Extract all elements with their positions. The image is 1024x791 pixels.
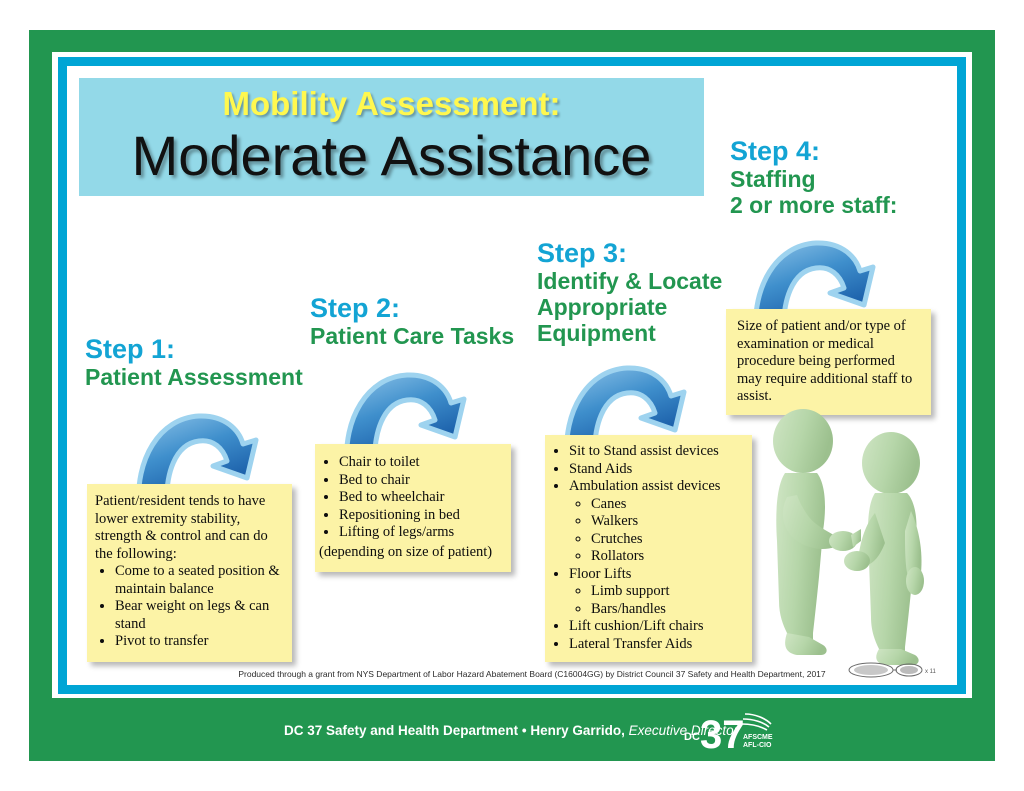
- list-item: Ambulation assist devices Canes Walkers …: [569, 478, 746, 566]
- list-item: Rollators: [591, 548, 746, 566]
- step-1-title: Patient Assessment: [85, 364, 303, 390]
- title-banner: Mobility Assessment: Moderate Assistance: [79, 78, 704, 196]
- step-4-heading: Step 4: Staffing 2 or more staff:: [730, 136, 897, 218]
- step-3-title-line-3: Equipment: [537, 320, 722, 346]
- list-item: Floor Lifts Limb support Bars/handles: [569, 566, 746, 619]
- step-4-note-text: Size of patient and/or type of examinati…: [737, 318, 920, 406]
- list-item: Canes: [591, 496, 746, 514]
- list-item-label: Ambulation assist devices: [569, 478, 720, 494]
- footer-banner: DC 37 Safety and Health Department • Hen…: [29, 701, 995, 761]
- step-3-note-box: Sit to Stand assist devices Stand Aids A…: [545, 435, 752, 662]
- list-item: Lifting of legs/arms: [339, 524, 505, 542]
- step-2-title: Patient Care Tasks: [310, 323, 514, 349]
- step-3-bullet-list: Sit to Stand assist devices Stand Aids A…: [549, 443, 746, 653]
- poster: Mobility Assessment: Moderate Assistance…: [0, 0, 1024, 791]
- step-3-number: Step 3:: [537, 238, 722, 268]
- list-item: Bed to chair: [339, 472, 505, 490]
- list-item: Bear weight on legs & can stand: [115, 598, 284, 633]
- list-item: Stand Aids: [569, 461, 746, 479]
- dc37-logo: DC 37 AFSCME AFL-CIO: [683, 708, 773, 756]
- figure-left: [773, 409, 861, 655]
- step-3-sublist-ambulation: Canes Walkers Crutches Rollators: [569, 496, 746, 566]
- list-item: Sit to Stand assist devices: [569, 443, 746, 461]
- figure-right: [844, 432, 924, 665]
- list-item: Lateral Transfer Aids: [569, 636, 746, 654]
- step-4-note-box: Size of patient and/or type of examinati…: [726, 309, 931, 415]
- dc37-logo-afscme: AFSCME: [743, 734, 773, 741]
- list-item: Repositioning in bed: [339, 507, 505, 525]
- title-subtitle: Mobility Assessment:: [79, 78, 704, 124]
- step-3-heading: Step 3: Identify & Locate Appropriate Eq…: [537, 238, 722, 346]
- footer-department: DC 37 Safety and Health Department: [284, 723, 518, 738]
- list-item: Lift cushion/Lift chairs: [569, 618, 746, 636]
- dc37-logo-prefix: DC: [684, 731, 700, 743]
- poster-content-area: Mobility Assessment: Moderate Assistance…: [67, 66, 957, 685]
- step-1-note-box: Patient/resident tends to have lower ext…: [87, 484, 292, 662]
- list-item: Crutches: [591, 531, 746, 549]
- step-3-title-line-2: Appropriate: [537, 294, 722, 320]
- two-figures-assisting-illustration: [757, 401, 957, 674]
- step-3-title-line-1: Identify & Locate: [537, 268, 722, 294]
- step-1-note-intro: Patient/resident tends to have lower ext…: [95, 493, 284, 563]
- step-2-note-tail: (depending on size of patient): [319, 544, 505, 562]
- step-1-bullet-list: Come to a seated position & maintain bal…: [95, 563, 284, 651]
- page-title: Moderate Assistance: [79, 124, 704, 188]
- step-2-heading: Step 2: Patient Care Tasks: [310, 293, 514, 349]
- step-3-sublist-floor-lifts: Limb support Bars/handles: [569, 583, 746, 618]
- svg-text:x 11: x 11: [925, 669, 937, 675]
- union-printing-bug-icon: x 11: [845, 661, 937, 684]
- dc37-logo-number: 37: [700, 713, 745, 756]
- step-4-title-line-1: Staffing: [730, 166, 897, 192]
- list-item: Limb support: [591, 583, 746, 601]
- footer-person: Henry Garrido,: [530, 723, 625, 738]
- step-2-number: Step 2:: [310, 293, 514, 323]
- list-item: Come to a seated position & maintain bal…: [115, 563, 284, 598]
- footer-credit-text: DC 37 Safety and Health Department • Hen…: [284, 723, 738, 738]
- step-4-number: Step 4:: [730, 136, 897, 166]
- list-item: Pivot to transfer: [115, 633, 284, 651]
- list-item: Bars/handles: [591, 601, 746, 619]
- step-1-heading: Step 1: Patient Assessment: [85, 334, 303, 390]
- step-2-note-box: Chair to toilet Bed to chair Bed to whee…: [315, 444, 511, 572]
- step-1-number: Step 1:: [85, 334, 303, 364]
- dc37-logo-flag-icon: [742, 714, 771, 730]
- list-item-label: Floor Lifts: [569, 566, 631, 582]
- footer-separator: •: [522, 723, 527, 738]
- list-item: Bed to wheelchair: [339, 489, 505, 507]
- list-item: Chair to toilet: [339, 454, 505, 472]
- step-2-bullet-list: Chair to toilet Bed to chair Bed to whee…: [319, 454, 505, 542]
- list-item: Walkers: [591, 513, 746, 531]
- dc37-logo-aflcio: AFL-CIO: [743, 742, 772, 749]
- credit-line: Produced through a grant from NYS Depart…: [212, 668, 852, 680]
- step-4-title-line-2: 2 or more staff:: [730, 192, 897, 218]
